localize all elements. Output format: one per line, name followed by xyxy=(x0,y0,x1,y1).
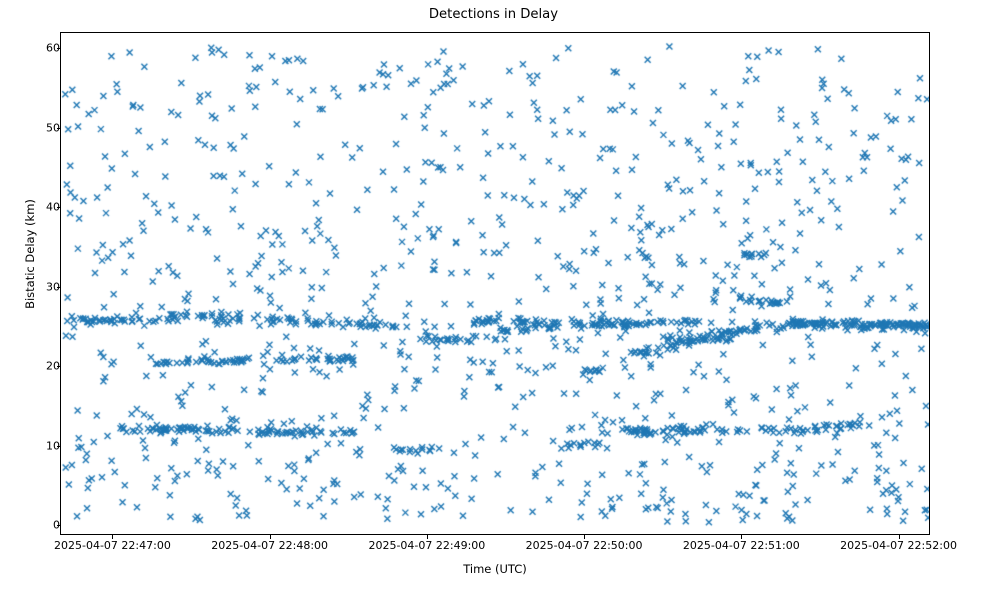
x-axis-tick-mark xyxy=(427,535,428,539)
x-axis-tick-label: 2025-04-07 22:48:00 xyxy=(211,539,328,552)
x-axis-tick-labels: 2025-04-07 22:47:002025-04-07 22:48:0020… xyxy=(0,0,987,590)
x-axis-tick-label: 2025-04-07 22:52:00 xyxy=(840,539,957,552)
x-axis-tick-mark xyxy=(270,535,271,539)
x-axis-tick-label: 2025-04-07 22:49:00 xyxy=(368,539,485,552)
x-axis-tick-label: 2025-04-07 22:51:00 xyxy=(683,539,800,552)
x-axis-label: Time (UTC) xyxy=(60,562,930,576)
x-axis-tick-mark xyxy=(112,535,113,539)
x-axis-tick-label: 2025-04-07 22:50:00 xyxy=(526,539,643,552)
x-axis-tick-mark xyxy=(741,535,742,539)
x-axis-tick-mark xyxy=(899,535,900,539)
x-axis-tick-label: 2025-04-07 22:47:00 xyxy=(54,539,171,552)
matplotlib-figure: Detections in Delay Bistatic Delay (km) … xyxy=(0,0,987,590)
x-axis-tick-mark xyxy=(584,535,585,539)
